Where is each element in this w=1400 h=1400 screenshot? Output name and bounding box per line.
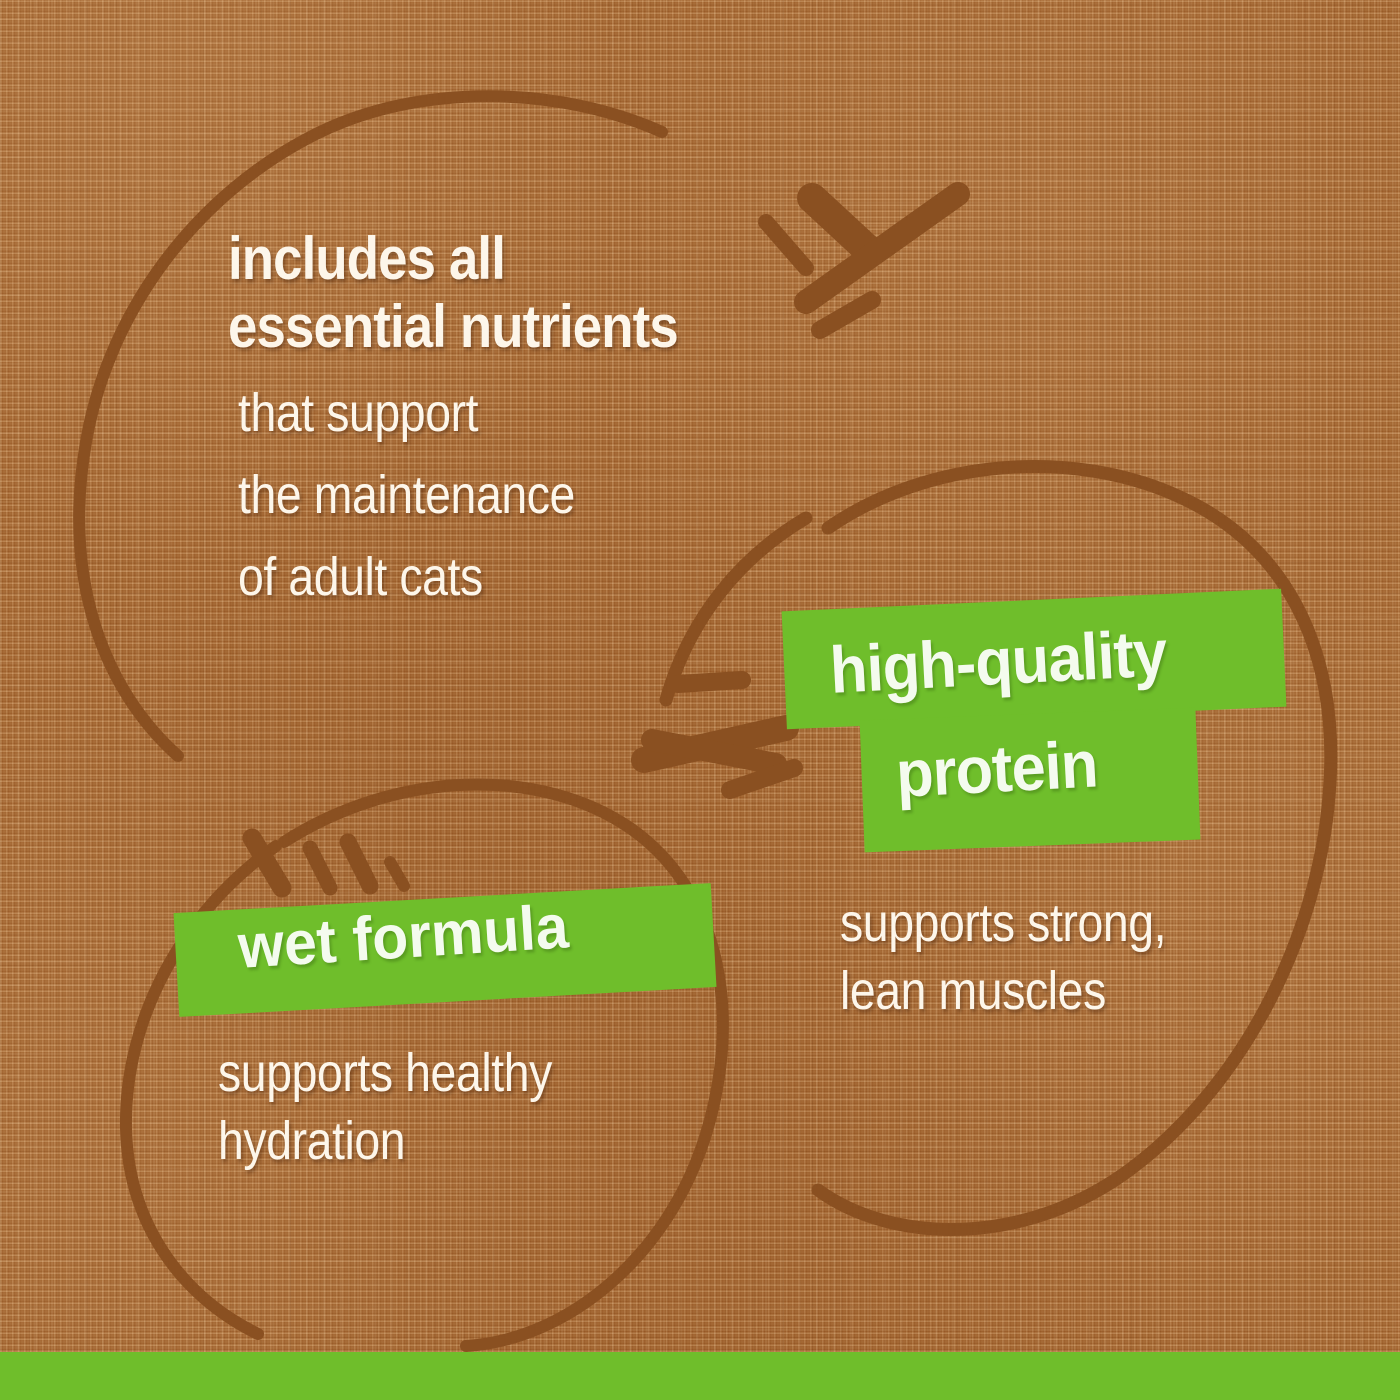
packaging-feature-panel: includes all essential nutrients that su… [0, 0, 1400, 1400]
wet-formula-badge: wet formula [0, 0, 1400, 1400]
wet-body-line2: hydration [218, 1110, 405, 1174]
wet-body-line1: supports healthy [218, 1042, 552, 1106]
bottom-accent-strip [0, 1352, 1400, 1400]
